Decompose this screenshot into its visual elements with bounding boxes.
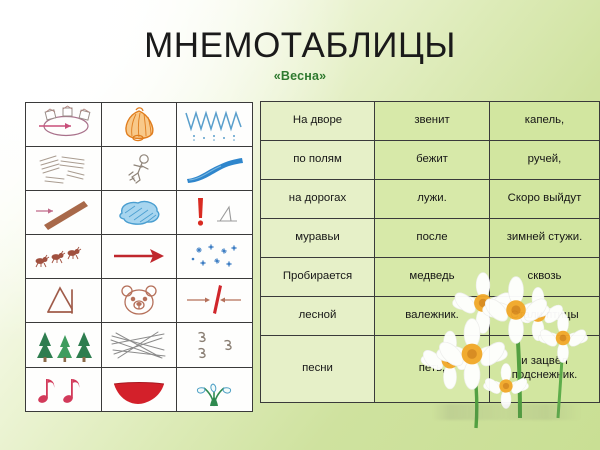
table-row bbox=[26, 147, 253, 191]
table-row: На дворе звенит капель, bbox=[261, 102, 600, 141]
text-cell: звенит bbox=[375, 102, 490, 141]
page-title: МНЕМОТАБЛИЦЫ bbox=[0, 26, 600, 66]
picture-cell bbox=[177, 279, 253, 323]
table-row bbox=[26, 103, 253, 147]
running-figure-icon bbox=[102, 147, 177, 190]
text-cell: муравьи bbox=[261, 218, 375, 257]
mnemonic-text-grid: На дворе звенит капель, по полям бежит р… bbox=[260, 101, 600, 403]
text-cell: лесной bbox=[261, 296, 375, 335]
table-row bbox=[26, 323, 253, 367]
table-row bbox=[26, 191, 253, 235]
picture-cell bbox=[26, 103, 102, 147]
picture-cell bbox=[177, 147, 253, 191]
text-cell: песни bbox=[261, 335, 375, 402]
table-row bbox=[26, 367, 253, 411]
picture-cell bbox=[101, 147, 177, 191]
mnemonic-picture-grid bbox=[25, 102, 253, 412]
text-cell: зимней стужи. bbox=[490, 218, 600, 257]
picture-cell bbox=[101, 279, 177, 323]
picture-cell bbox=[101, 103, 177, 147]
picture-cell bbox=[101, 191, 177, 235]
text-cell: Пробирается bbox=[261, 257, 375, 296]
stream-brushstroke-icon bbox=[177, 147, 252, 190]
text-cell: сквозь bbox=[490, 257, 600, 296]
bear-face-icon bbox=[102, 279, 177, 322]
text-cell: лужи. bbox=[375, 179, 490, 218]
table-row: муравьи после зимней стужи. bbox=[261, 218, 600, 257]
slide-canvas: МНЕМОТАБЛИЦЫ «Весна» bbox=[0, 0, 600, 450]
text-cell: после bbox=[375, 218, 490, 257]
picture-cell bbox=[26, 367, 102, 411]
table-row: Пробирается медведь сквозь bbox=[261, 257, 600, 296]
text-cell: по полям bbox=[261, 140, 375, 179]
arrows-through-icon bbox=[177, 279, 252, 322]
picture-cell bbox=[177, 191, 253, 235]
exclamation-and-angle-icon bbox=[177, 191, 252, 234]
picture-cell bbox=[177, 103, 253, 147]
text-cell: медведь bbox=[375, 257, 490, 296]
puddle-icon bbox=[102, 191, 177, 234]
picture-cell bbox=[26, 279, 102, 323]
text-cell: капель, bbox=[490, 102, 600, 141]
smiling-mouth-icon bbox=[102, 368, 177, 411]
table-row: на дорогах лужи. Скоро выйдут bbox=[261, 179, 600, 218]
text-cell: на дорогах bbox=[261, 179, 375, 218]
crossed-branches-icon bbox=[102, 324, 177, 367]
courtyard-with-houses-icon bbox=[26, 103, 101, 146]
snowdrop-flower-icon bbox=[177, 368, 252, 411]
snowflakes-icon bbox=[177, 235, 252, 278]
text-cell: бежит bbox=[375, 140, 490, 179]
text-cell: петь, bbox=[375, 335, 490, 402]
watermark bbox=[432, 404, 582, 420]
picture-cell bbox=[177, 235, 253, 279]
picture-cell bbox=[26, 323, 102, 367]
fir-trees-icon bbox=[26, 324, 101, 367]
fields-hatching-icon bbox=[26, 147, 101, 190]
dripping-zigzag-icon bbox=[177, 103, 252, 146]
picture-cell bbox=[101, 367, 177, 411]
picture-cell bbox=[101, 235, 177, 279]
music-notes-icon bbox=[26, 368, 101, 411]
red-arrow-icon bbox=[102, 235, 177, 278]
text-cell: валежник. bbox=[375, 296, 490, 335]
picture-cell bbox=[177, 323, 253, 367]
picture-cell bbox=[26, 147, 102, 191]
table-row: по полям бежит ручей, bbox=[261, 140, 600, 179]
table-row bbox=[26, 279, 253, 323]
road-with-arrow-icon bbox=[26, 191, 101, 234]
text-cell: Скоро выйдут bbox=[490, 179, 600, 218]
text-cell: На дворе bbox=[261, 102, 375, 141]
angle-shape-icon bbox=[26, 279, 101, 322]
table-row: лесной валежник. Стали птицы bbox=[261, 296, 600, 335]
bell-icon bbox=[102, 103, 177, 146]
page-subtitle: «Весна» bbox=[0, 69, 600, 83]
text-cell: Стали птицы bbox=[490, 296, 600, 335]
text-cell: ручей, bbox=[490, 140, 600, 179]
picture-cell bbox=[101, 323, 177, 367]
title-block: МНЕМОТАБЛИЦЫ «Весна» bbox=[0, 26, 600, 83]
table-row: песни петь, и зацвёл подснежник. bbox=[261, 335, 600, 402]
picture-cell bbox=[26, 191, 102, 235]
table-row bbox=[26, 235, 253, 279]
picture-cell bbox=[177, 367, 253, 411]
ants-line-icon bbox=[26, 235, 101, 278]
text-cell: и зацвёл подснежник. bbox=[490, 335, 600, 402]
birds-squiggles-icon bbox=[177, 324, 252, 367]
picture-cell bbox=[26, 235, 102, 279]
